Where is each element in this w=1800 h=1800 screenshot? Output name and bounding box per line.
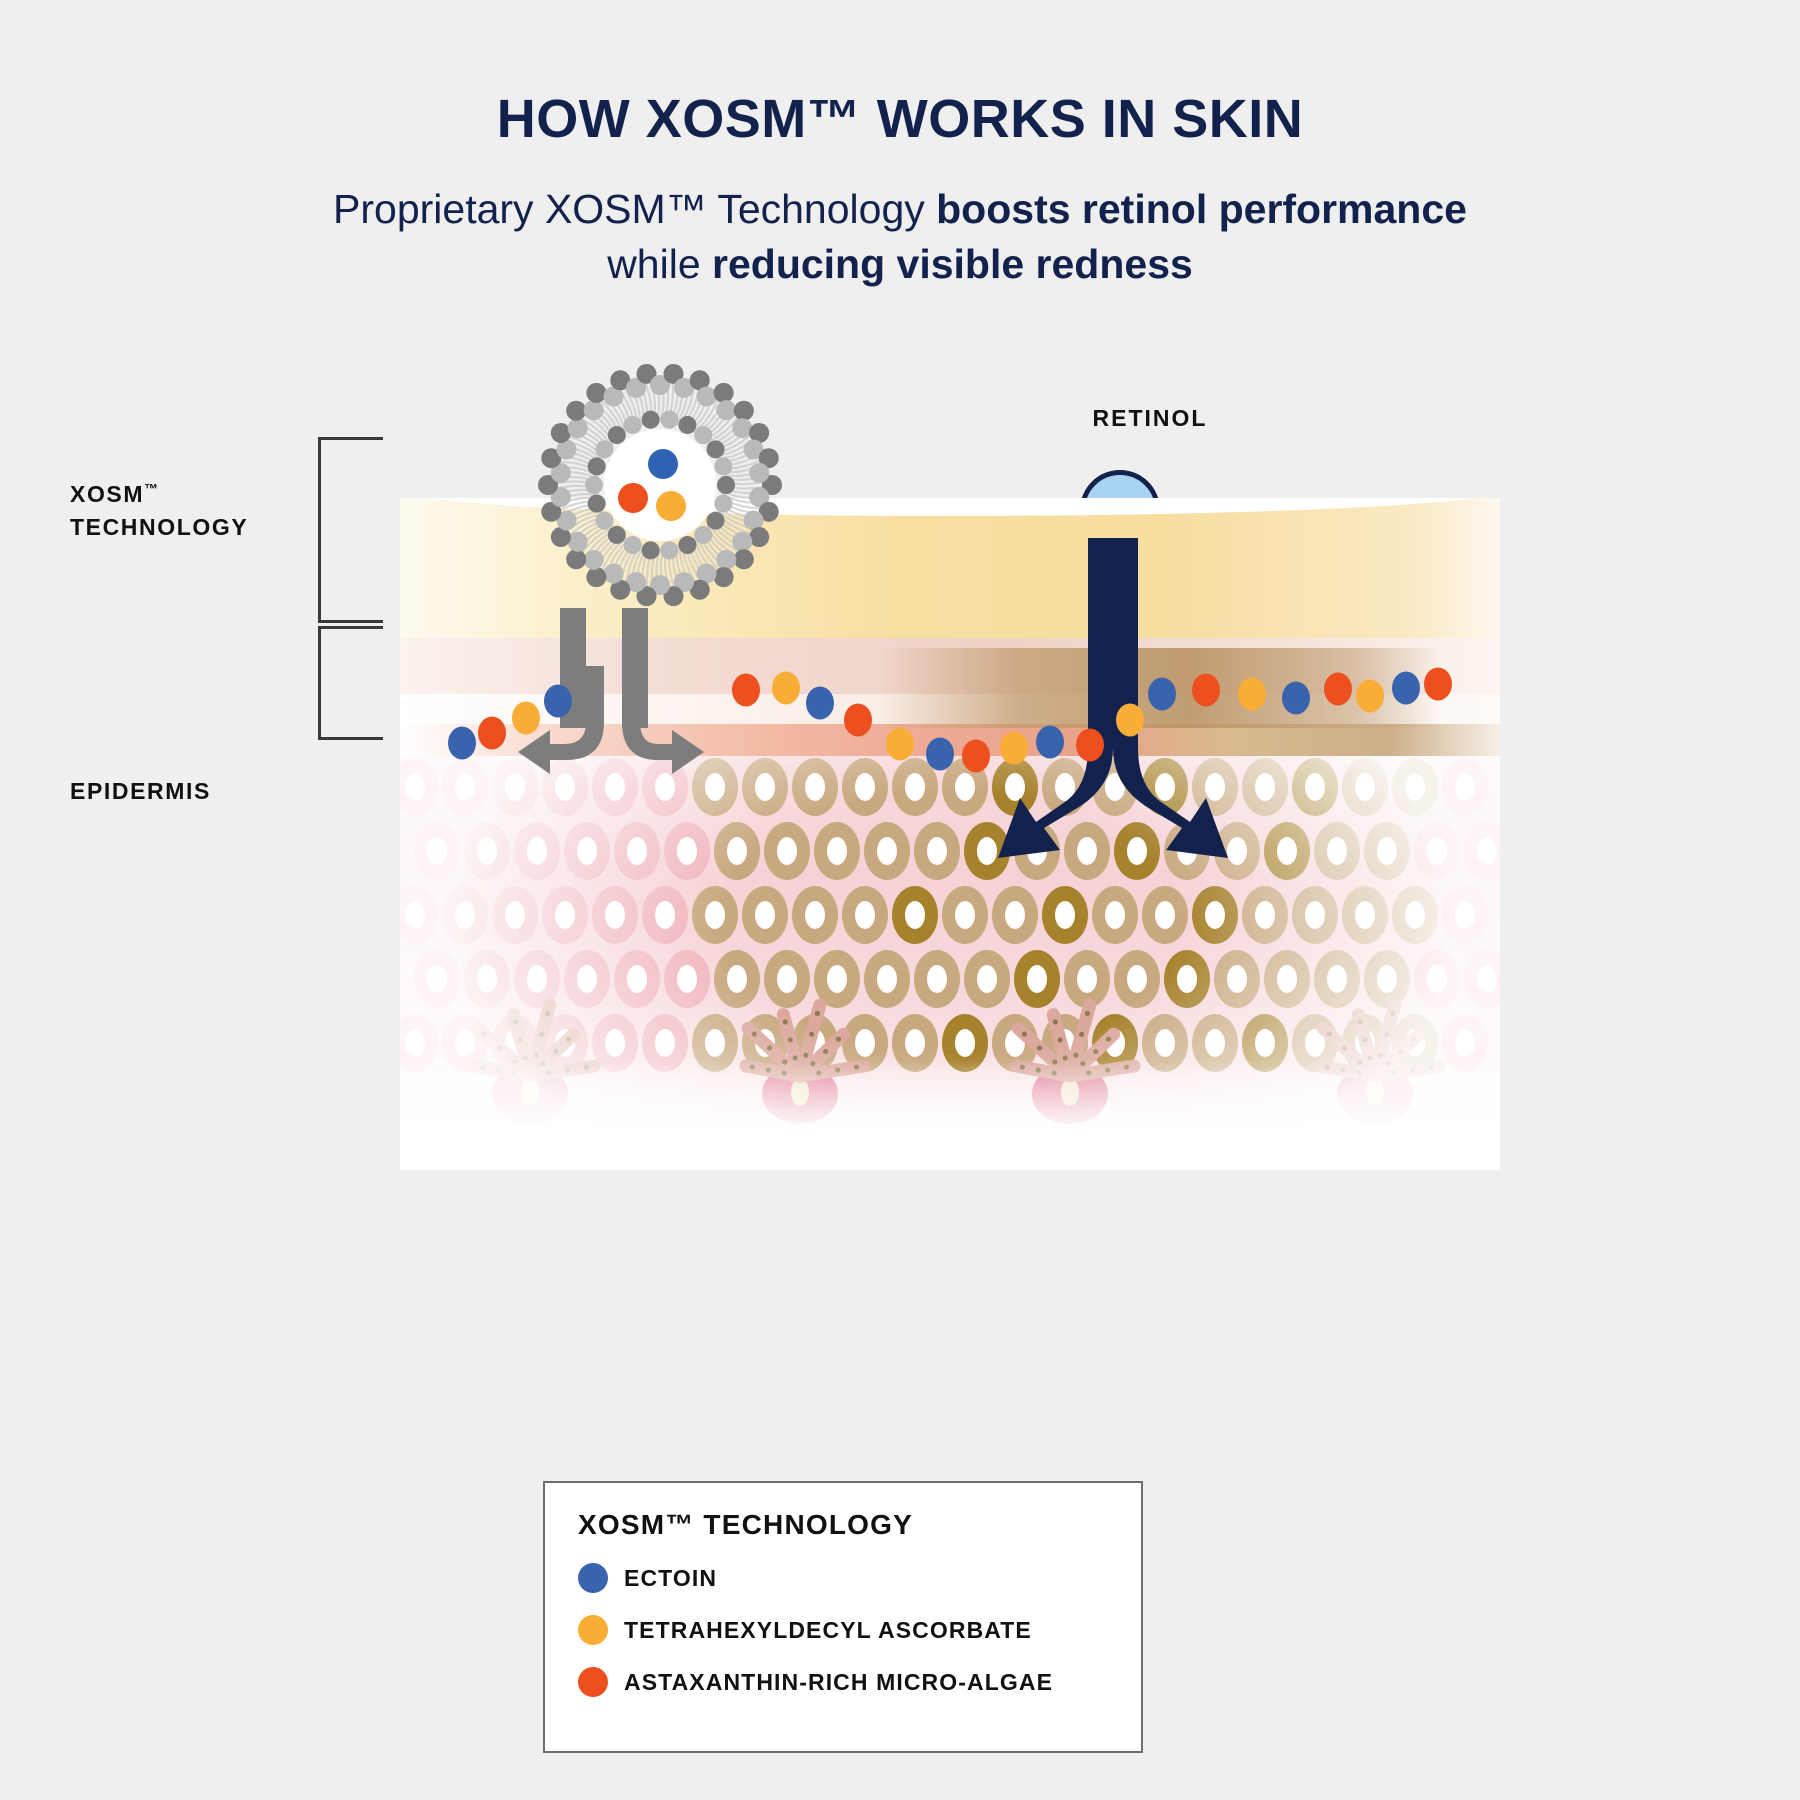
active-particle: [962, 739, 990, 772]
active-particle: [1036, 725, 1064, 758]
legend-swatch-ascorbate: [578, 1615, 608, 1645]
subtitle-part-2: boosts retinol performance: [936, 186, 1467, 232]
arrow-gray-right: [622, 666, 704, 774]
active-particle: [772, 671, 800, 704]
active-particle: [544, 684, 572, 717]
page-title: HOW XOSM™ WORKS IN SKIN: [0, 88, 1800, 150]
active-particle: [1000, 731, 1028, 764]
active-particle: [886, 727, 914, 760]
label-xosm-technology: XOSM™ TECHNOLOGY: [70, 478, 330, 545]
subtitle-part-1: Proprietary XOSM™ Technology: [333, 186, 936, 232]
label-retinol: RETINOL: [1000, 405, 1300, 432]
bracket-epidermis: [318, 626, 383, 740]
liposome-payload-astaxanthin: [618, 483, 648, 513]
legend-swatch-astaxanthin: [578, 1667, 608, 1697]
infographic-page: HOW XOSM™ WORKS IN SKIN Proprietary XOSM…: [0, 0, 1800, 1800]
active-particle: [1076, 728, 1104, 761]
active-particle: [448, 726, 476, 759]
legend-swatch-ectoin: [578, 1563, 608, 1593]
liposome-xosm-icon: [530, 355, 790, 615]
active-particle: [806, 686, 834, 719]
active-particle: [1324, 672, 1352, 705]
legend-label-astaxanthin: ASTAXANTHIN-RICH MICRO-ALGAE: [624, 1669, 1053, 1696]
liposome-core: [604, 429, 716, 541]
label-epidermis: EPIDERMIS: [70, 775, 330, 808]
liposome-payload-ectoin: [648, 449, 678, 479]
legend-box: XOSM™ TECHNOLOGY ECTOIN TETRAHEXYLDECYL …: [543, 1481, 1143, 1753]
legend-label-ectoin: ECTOIN: [624, 1565, 717, 1592]
active-particle: [1148, 677, 1176, 710]
legend-item-ascorbate: TETRAHEXYLDECYL ASCORBATE: [578, 1615, 1141, 1645]
active-particle: [478, 716, 506, 749]
active-particle: [1238, 677, 1266, 710]
trademark-icon: ™: [144, 480, 158, 496]
bracket-xosm-technology: [318, 437, 383, 623]
subtitle-part-4: reducing visible redness: [712, 241, 1193, 287]
liposome-payload-ascorbate: [656, 491, 686, 521]
legend-item-ectoin: ECTOIN: [578, 1563, 1141, 1593]
active-particle: [1392, 671, 1420, 704]
active-particle: [1116, 703, 1144, 736]
page-subtitle: Proprietary XOSM™ Technology boosts reti…: [300, 182, 1500, 293]
label-xosm-line1: XOSM: [70, 481, 144, 507]
label-epidermis-text: EPIDERMIS: [70, 778, 211, 804]
legend-item-astaxanthin: ASTAXANTHIN-RICH MICRO-ALGAE: [578, 1667, 1141, 1697]
active-particle: [1192, 673, 1220, 706]
active-particle: [512, 701, 540, 734]
active-particle: [1282, 681, 1310, 714]
active-particle: [844, 703, 872, 736]
active-particle: [926, 737, 954, 770]
subtitle-part-3: while: [607, 241, 712, 287]
active-particle: [732, 673, 760, 706]
legend-label-ascorbate: TETRAHEXYLDECYL ASCORBATE: [624, 1617, 1032, 1644]
legend-title: XOSM™ TECHNOLOGY: [578, 1509, 1141, 1541]
active-particle: [1356, 679, 1384, 712]
arrow-retinol-fork: [998, 538, 1228, 858]
label-xosm-line2: TECHNOLOGY: [70, 514, 248, 540]
active-particle: [1424, 667, 1452, 700]
